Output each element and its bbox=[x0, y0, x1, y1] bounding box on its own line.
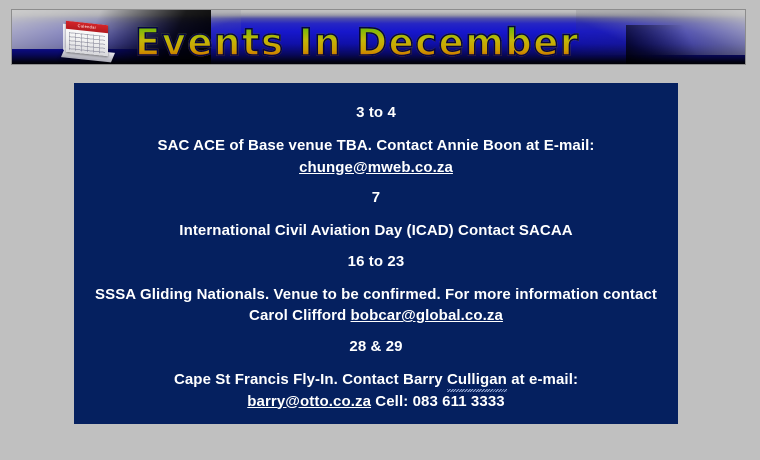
event-description-text: at e-mail: bbox=[507, 371, 578, 388]
event-description: International Civil Aviation Day (ICAD) … bbox=[92, 220, 660, 242]
misspelled-word: Culligan bbox=[447, 369, 507, 391]
page-title: Events In December bbox=[135, 20, 735, 64]
email-link[interactable]: chunge@mweb.co.za bbox=[299, 159, 453, 176]
event-description-text: Cape St Francis Fly-In. Contact Barry bbox=[174, 371, 447, 388]
page-banner: Calendar Events In December bbox=[11, 9, 746, 65]
calendar-header-label: Calendar bbox=[66, 21, 108, 33]
event-description-text: SAC ACE of Base venue TBA. Contact Annie… bbox=[157, 137, 594, 154]
email-link[interactable]: barry@otto.co.za bbox=[247, 393, 371, 410]
event-date: 3 to 4 bbox=[92, 104, 660, 123]
calendar-grid bbox=[69, 32, 105, 54]
events-panel: 3 to 4 SAC ACE of Base venue TBA. Contac… bbox=[74, 83, 678, 424]
event-description: SAC ACE of Base venue TBA. Contact Annie… bbox=[92, 135, 660, 179]
event-date: 7 bbox=[92, 189, 660, 208]
calendar-body: Calendar bbox=[66, 21, 108, 56]
event-contact-phone: Cell: 083 611 3333 bbox=[371, 393, 505, 410]
event-date: 16 to 23 bbox=[92, 253, 660, 272]
email-link[interactable]: bobcar@global.co.za bbox=[351, 307, 503, 324]
banner-background: Calendar Events In December bbox=[11, 9, 746, 65]
event-description-text: International Civil Aviation Day (ICAD) … bbox=[179, 222, 572, 239]
event-date: 28 & 29 bbox=[92, 338, 660, 357]
calendar-icon: Calendar bbox=[61, 21, 118, 65]
event-description: SSSA Gliding Nationals. Venue to be conf… bbox=[92, 284, 660, 328]
event-description: Cape St Francis Fly-In. Contact Barry Cu… bbox=[92, 369, 660, 413]
